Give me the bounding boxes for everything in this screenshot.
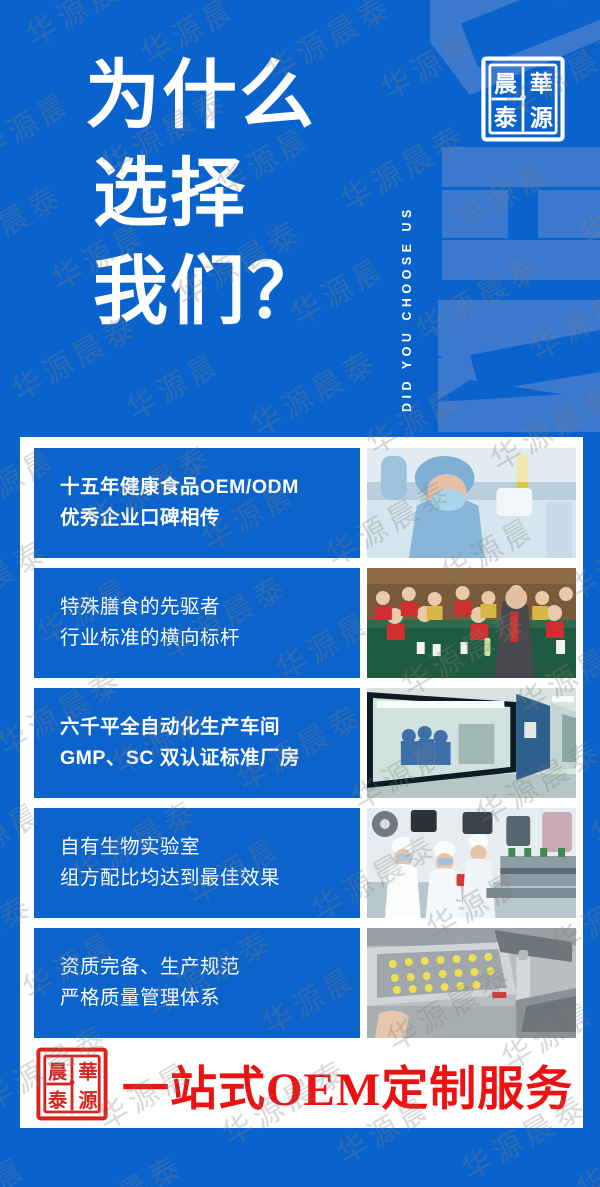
card-line: 特殊膳食的先驱者 xyxy=(60,592,360,623)
svg-text:泰: 泰 xyxy=(493,105,518,131)
card-text-block: 自有生物实验室 组方配比均达到最佳效果 xyxy=(34,808,360,918)
svg-text:晨: 晨 xyxy=(48,1061,68,1083)
feature-card-list: 十五年健康食品OEM/ODM 优秀企业口碑相传 xyxy=(34,448,576,1038)
feature-card: 十五年健康食品OEM/ODM 优秀企业口碑相传 xyxy=(34,448,576,558)
card-line: GMP、SC 双认证标准厂房 xyxy=(60,743,360,774)
svg-text:泰: 泰 xyxy=(47,1089,68,1112)
content-panel: 十五年健康食品OEM/ODM 优秀企业口碑相传 xyxy=(20,437,583,1128)
card-line: 组方配比均达到最佳效果 xyxy=(60,863,360,894)
page-title: 为什么 选择 我们？ xyxy=(85,48,375,342)
card-text-block: 六千平全自动化生产车间 GMP、SC 双认证标准厂房 xyxy=(34,688,360,798)
svg-text:晨: 晨 xyxy=(494,72,518,97)
poster-header: 为什么 选择 我们？ DID YOU CHOOSE US 晨 華 泰 源 xyxy=(0,0,600,440)
company-seal-icon: 晨 華 泰 源 xyxy=(477,52,569,146)
footer-cta: 晨 華 泰 源 一站式OEM定制服务 xyxy=(20,1040,583,1128)
svg-text:華: 華 xyxy=(530,71,553,97)
company-seal-red-icon: 晨 華 泰 源 xyxy=(32,1043,112,1125)
card-text-block: 十五年健康食品OEM/ODM 优秀企业口碑相传 xyxy=(34,448,360,558)
card-line: 行业标准的横向标杆 xyxy=(60,623,360,654)
card-text-block: 特殊膳食的先驱者 行业标准的横向标杆 xyxy=(34,568,360,678)
card-line: 资质完备、生产规范 xyxy=(60,952,360,983)
feature-card: 资质完备、生产规范 严格质量管理体系 xyxy=(34,928,576,1038)
footer-headline: 一站式OEM定制服务 xyxy=(122,1050,573,1119)
poster-root: { "brand": { "name_zh": "华源晨泰", "seal_ch… xyxy=(0,0,600,1187)
photo-lab-technician-pipette xyxy=(367,448,576,558)
svg-text:源: 源 xyxy=(78,1089,98,1112)
vertical-caption: DID YOU CHOOSE US xyxy=(400,22,426,412)
feature-card: 自有生物实验室 组方配比均达到最佳效果 xyxy=(34,808,576,918)
svg-text:源: 源 xyxy=(530,106,553,131)
photo-conference-audience xyxy=(367,568,576,678)
photo-cleanroom-corridor xyxy=(367,688,576,798)
card-line: 十五年健康食品OEM/ODM xyxy=(60,472,360,503)
title-line-1: 为什么 xyxy=(85,48,375,146)
card-line: 严格质量管理体系 xyxy=(60,983,360,1014)
photo-production-line-workers xyxy=(367,808,576,918)
card-text-block: 资质完备、生产规范 严格质量管理体系 xyxy=(34,928,360,1038)
card-line: 优秀企业口碑相传 xyxy=(60,503,360,534)
title-line-3: 我们？ xyxy=(85,244,375,342)
photo-tablet-packing-machine xyxy=(367,928,576,1038)
title-line-2: 选择 xyxy=(85,146,375,244)
card-line: 自有生物实验室 xyxy=(60,832,360,863)
feature-card: 六千平全自动化生产车间 GMP、SC 双认证标准厂房 xyxy=(34,688,576,798)
svg-text:華: 華 xyxy=(78,1060,97,1083)
feature-card: 特殊膳食的先驱者 行业标准的横向标杆 xyxy=(34,568,576,678)
card-line: 六千平全自动化生产车间 xyxy=(60,712,360,743)
